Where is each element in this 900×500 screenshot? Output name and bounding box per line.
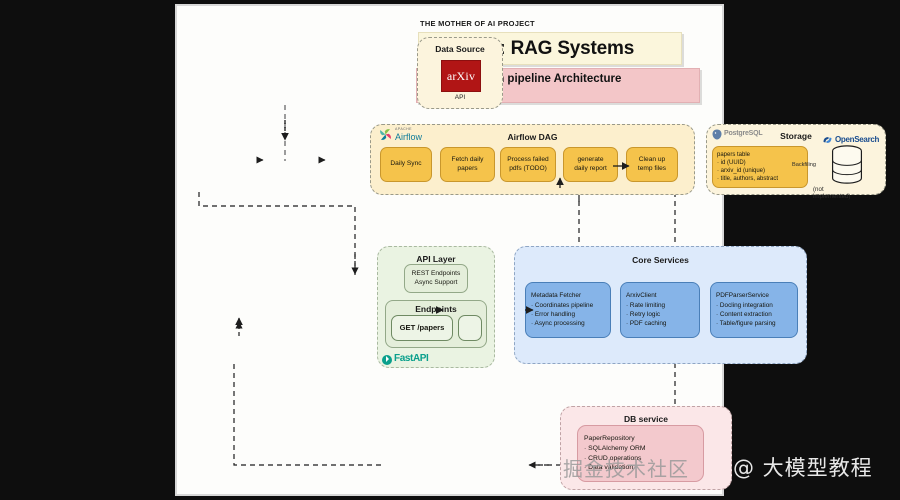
- watermark-dark: @ 大模型教程: [733, 452, 873, 482]
- watermark-light: 掘金技术社区: [563, 453, 689, 482]
- service-line: ArxivClient: [621, 291, 699, 300]
- data-source-api-caption: API: [417, 94, 503, 101]
- endpoint-get-papers[interactable]: GET /papers: [391, 315, 453, 341]
- task-line: papers: [441, 165, 494, 173]
- service-line: · Docling integration: [711, 301, 797, 310]
- arxiv-logo-text: arXiv: [447, 69, 475, 84]
- service-line: · Coordinates pipeline: [526, 301, 610, 310]
- service-line: · Content extraction: [711, 310, 797, 319]
- endpoint-label: GET /papers: [392, 324, 452, 332]
- db-line: PaperRepository: [578, 434, 703, 444]
- papers-table-line: · arxiv_id (unique): [713, 167, 807, 175]
- papers-table-line: papers table: [713, 151, 807, 159]
- service-arxiv-client[interactable]: ArxivClient · Rate limiting · Retry logi…: [620, 282, 700, 338]
- postgresql-logo-text: PostgreSQL: [724, 130, 762, 137]
- backfilling-label: Backfiling: [792, 162, 816, 168]
- airflow-task-generate-daily-report[interactable]: generate daily report: [563, 147, 618, 182]
- rest-endpoints-node[interactable]: REST Endpoints Async Support: [404, 264, 468, 293]
- service-line: PDFParserService: [711, 291, 797, 300]
- service-line: · Async processing: [526, 319, 610, 328]
- postgresql-logo: PostgreSQL: [712, 128, 774, 141]
- service-metadata-fetcher[interactable]: Metadata Fetcher · Coordinates pipeline …: [525, 282, 611, 338]
- opensearch-database-cylinder-icon: [830, 145, 864, 184]
- airflow-task-fetch-daily-papers[interactable]: Fetch daily papers: [440, 147, 495, 182]
- opensearch-mark-icon: [822, 135, 833, 145]
- service-line: · Rate limiting: [621, 301, 699, 310]
- service-line: · PDF caching: [621, 319, 699, 328]
- papers-table-line: · title, authors, abstract: [713, 175, 807, 183]
- group-title-db-service: DB service: [561, 414, 731, 424]
- airflow-logo-kicker: APACHE: [395, 127, 412, 131]
- task-line: Daily Sync: [381, 160, 431, 168]
- group-title-api-layer: API Layer: [378, 254, 494, 264]
- task-line: generate: [564, 156, 617, 164]
- service-pdf-parser[interactable]: PDFParserService · Docling integration ·…: [710, 282, 798, 338]
- fastapi-logo: FastAPI: [382, 353, 437, 366]
- endpoints-title: Endpoints: [385, 304, 487, 314]
- task-line: pdfs (TODO): [501, 165, 555, 173]
- task-line: daily report: [564, 165, 617, 173]
- task-line: Fetch daily: [441, 156, 494, 164]
- endpoint-placeholder[interactable]: [458, 315, 482, 341]
- airflow-task-clean-up-temp-files[interactable]: Clean up temp files: [626, 147, 678, 182]
- airflow-pinwheel-icon: [378, 127, 393, 142]
- airflow-task-process-failed-pdfs[interactable]: Process failed pdfs (TODO): [500, 147, 556, 182]
- project-kicker: THE MOTHER OF AI PROJECT: [420, 19, 535, 28]
- diagram-canvas: THE MOTHER OF AI PROJECT Phase 1: RAG Sy…: [175, 4, 724, 496]
- fastapi-logo-text: FastAPI: [394, 353, 428, 364]
- service-line: · Retry logic: [621, 310, 699, 319]
- group-title-data-source: Data Source: [418, 44, 502, 54]
- fastapi-mark-icon: [382, 355, 392, 365]
- apache-airflow-logo: APACHE Airflow: [378, 126, 434, 145]
- task-line: temp files: [627, 165, 677, 173]
- task-line: Clean up: [627, 156, 677, 164]
- service-line: Metadata Fetcher: [526, 291, 610, 300]
- airflow-task-daily-sync[interactable]: Daily Sync: [380, 147, 432, 182]
- rest-line: REST Endpoints: [405, 270, 467, 278]
- service-line: · Error handling: [526, 310, 610, 319]
- rest-line: Async Support: [405, 279, 467, 287]
- group-title-core-services: Core Services: [515, 255, 806, 265]
- postgresql-elephant-icon: [712, 129, 722, 140]
- screenshot-root: THE MOTHER OF AI PROJECT Phase 1: RAG Sy…: [0, 0, 900, 500]
- airflow-logo-text: Airflow: [395, 132, 422, 142]
- not-implemented-label: (not implemented): [813, 186, 850, 200]
- arxiv-logo: arXiv: [441, 60, 481, 92]
- opensearch-logo-text: OpenSearch: [835, 135, 879, 144]
- service-line: · Table/figure parsing: [711, 319, 797, 328]
- task-line: Process failed: [501, 156, 555, 164]
